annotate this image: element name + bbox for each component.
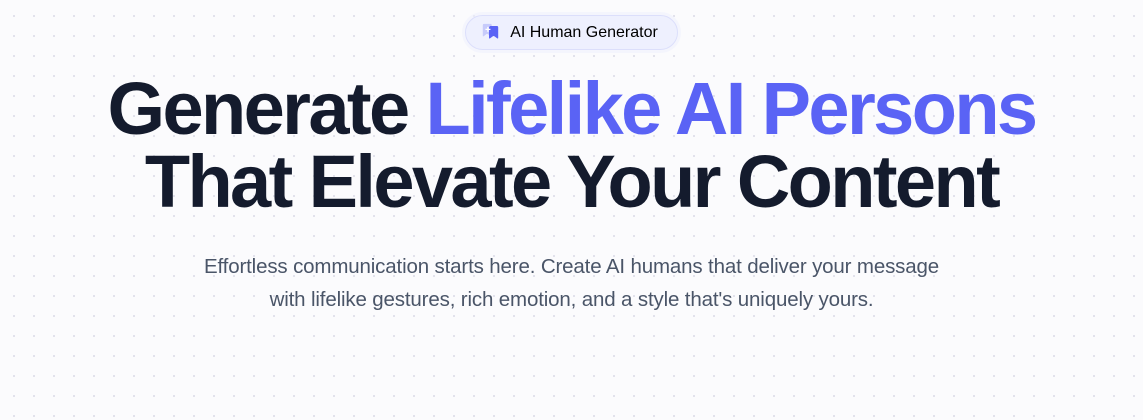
page-title: Generate Lifelike AI Persons That Elevat… xyxy=(108,50,1036,219)
subtitle-line-1: Effortless communication starts here. Cr… xyxy=(204,250,939,283)
headline-line-2: That Elevate Your Content xyxy=(108,145,1036,218)
hero-section: AI Human Generator Generate Lifelike AI … xyxy=(0,0,1143,420)
badge-label: AI Human Generator xyxy=(510,24,658,42)
ai-human-generator-badge[interactable]: AI Human Generator xyxy=(465,15,678,50)
subtitle-line-2: with lifelike gestures, rich emotion, an… xyxy=(204,283,939,316)
headline-dark-text: Generate xyxy=(108,67,426,150)
hero-subtitle: Effortless communication starts here. Cr… xyxy=(204,219,939,316)
headline-line-1: Generate Lifelike AI Persons xyxy=(108,72,1036,145)
headline-accent-text: Lifelike AI Persons xyxy=(425,67,1035,150)
ai-human-badge-icon xyxy=(480,22,501,43)
